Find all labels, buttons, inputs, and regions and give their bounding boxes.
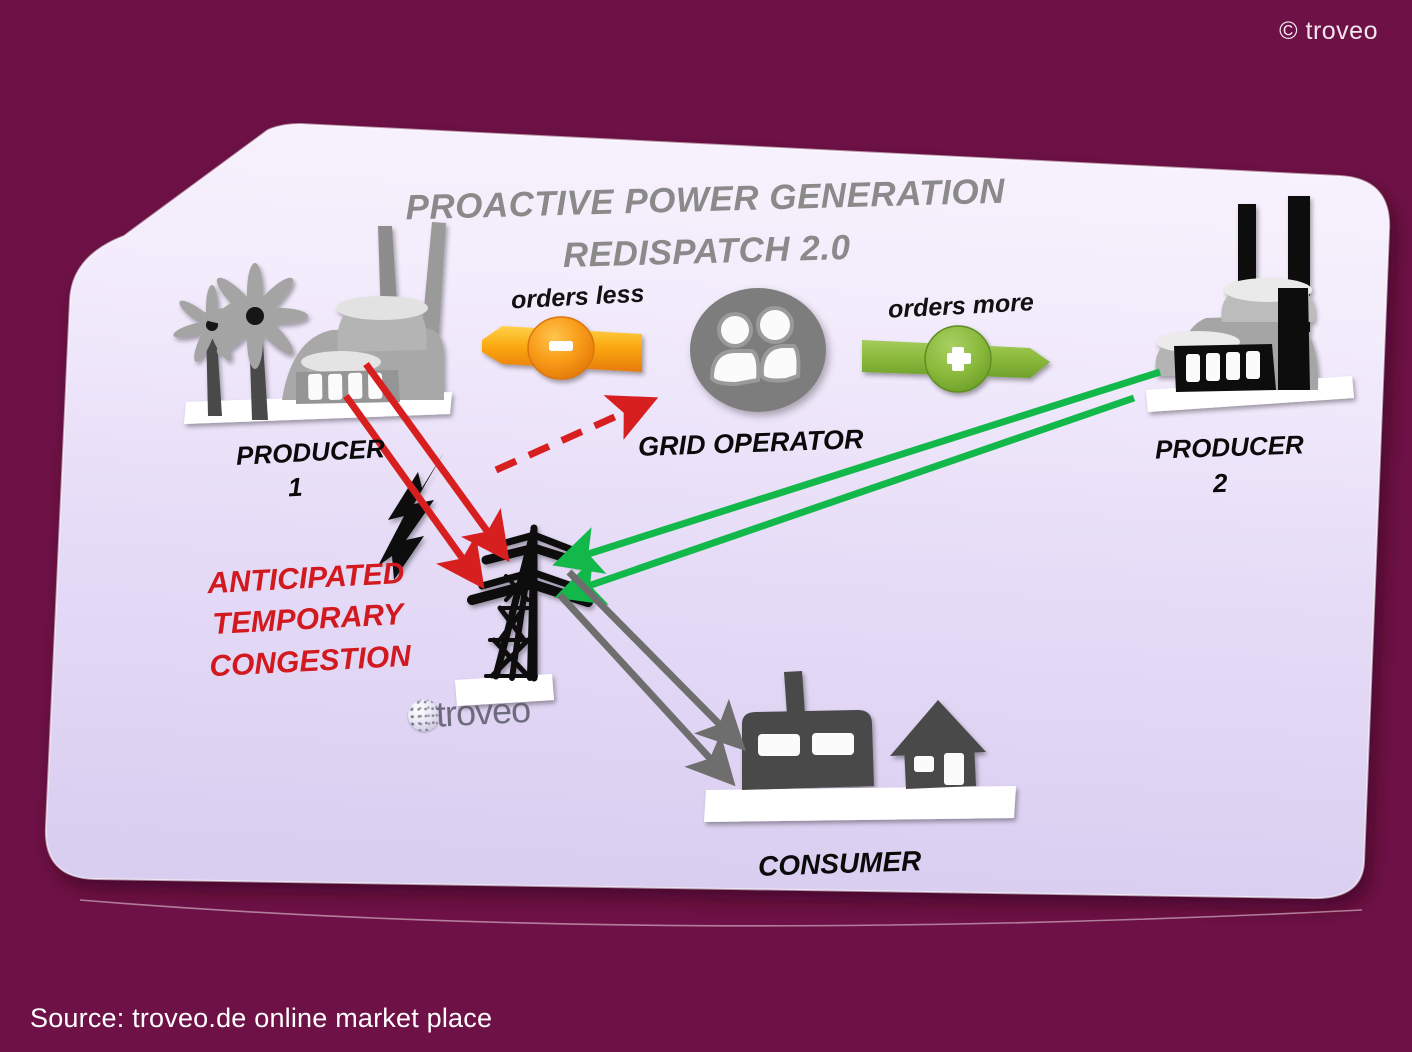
congestion-note: ANTICIPATED TEMPORARY CONGESTION [190, 552, 426, 688]
orders-more-label: orders more [887, 288, 1034, 325]
troveo-watermark: troveo [407, 689, 531, 737]
title-line-1: PROACTIVE POWER GENERATION [405, 172, 1005, 228]
source-caption: Source: troveo.de online market place [30, 1003, 492, 1034]
producer-2-label-line2: 2 [1212, 468, 1228, 499]
page-title: PROACTIVE POWER GENERATION REDISPATCH 2.… [0, 160, 1412, 291]
consumer-label: CONSUMER [757, 845, 921, 883]
producer-2-label: PRODUCER [1155, 429, 1305, 465]
diagram-stage: © troveo [0, 0, 1412, 1052]
producer-1-label: PRODUCER [235, 433, 385, 472]
grid-operator-label: GRID OPERATOR [638, 424, 864, 463]
diagram-text-layer: PROACTIVE POWER GENERATION REDISPATCH 2.… [0, 0, 1412, 1052]
orders-less-label: orders less [510, 280, 645, 316]
producer-1-label-line2: 1 [287, 472, 303, 504]
title-line-2: REDISPATCH 2.0 [0, 212, 1412, 291]
troveo-watermark-text: troveo [435, 689, 531, 736]
